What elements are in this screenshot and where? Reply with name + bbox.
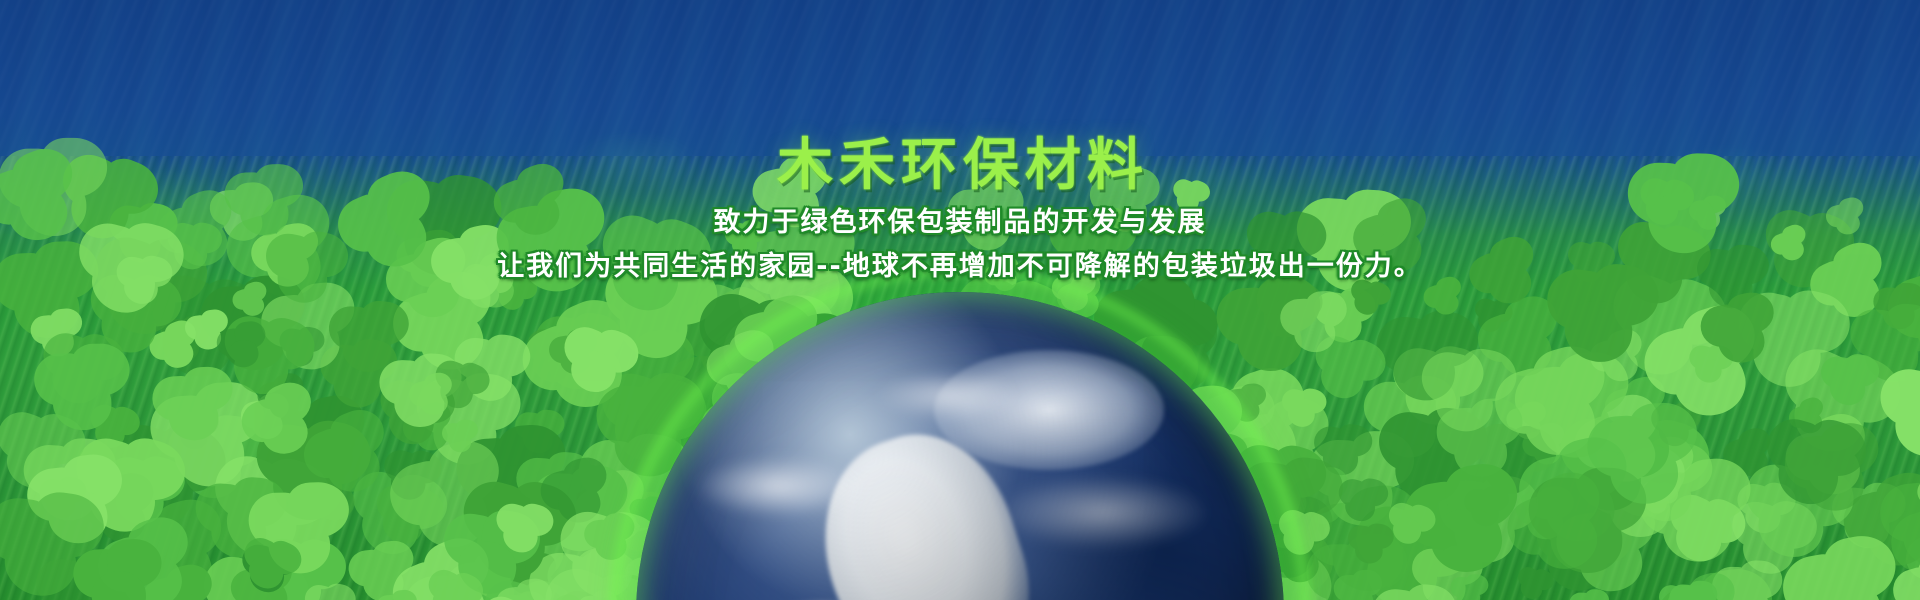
clover-lobe — [1293, 315, 1336, 354]
banner-subtitle-line-1: 致力于绿色环保包装制品的开发与发展 — [0, 204, 1920, 242]
clover-lobe — [168, 395, 220, 442]
clover-lobe — [391, 589, 418, 600]
earth-sphere — [636, 292, 1284, 600]
clover-leaf — [72, 538, 164, 600]
company-headline: 木禾环保材料 — [0, 138, 1920, 194]
clover-lobe — [1584, 589, 1609, 600]
clover-leaf — [1279, 290, 1349, 354]
clover-leaf — [1781, 420, 1885, 516]
banner-subtitle-line-2: 让我们为共同生活的家园--地球不再增加不可降解的包装垃圾出一份力。 — [0, 248, 1920, 286]
clover-leaf — [1696, 289, 1782, 370]
clover-leaf — [1413, 340, 1520, 440]
clover-leaf — [1568, 588, 1609, 600]
hero-banner: 木禾环保材料 致力于绿色环保包装制品的开发与发展 让我们为共同生活的家园--地球… — [0, 0, 1920, 600]
clover-lobe — [449, 432, 471, 452]
clover-leaf — [214, 319, 270, 370]
clover-leaf — [1585, 400, 1701, 506]
earth-globe — [636, 292, 1284, 600]
clover-lobe — [52, 378, 111, 431]
banner-copy: 木禾环保材料 致力于绿色环保包装制品的开发与发展 让我们为共同生活的家园--地球… — [0, 138, 1920, 287]
clover-leaf — [1816, 349, 1881, 409]
clover-leaf — [33, 344, 129, 431]
